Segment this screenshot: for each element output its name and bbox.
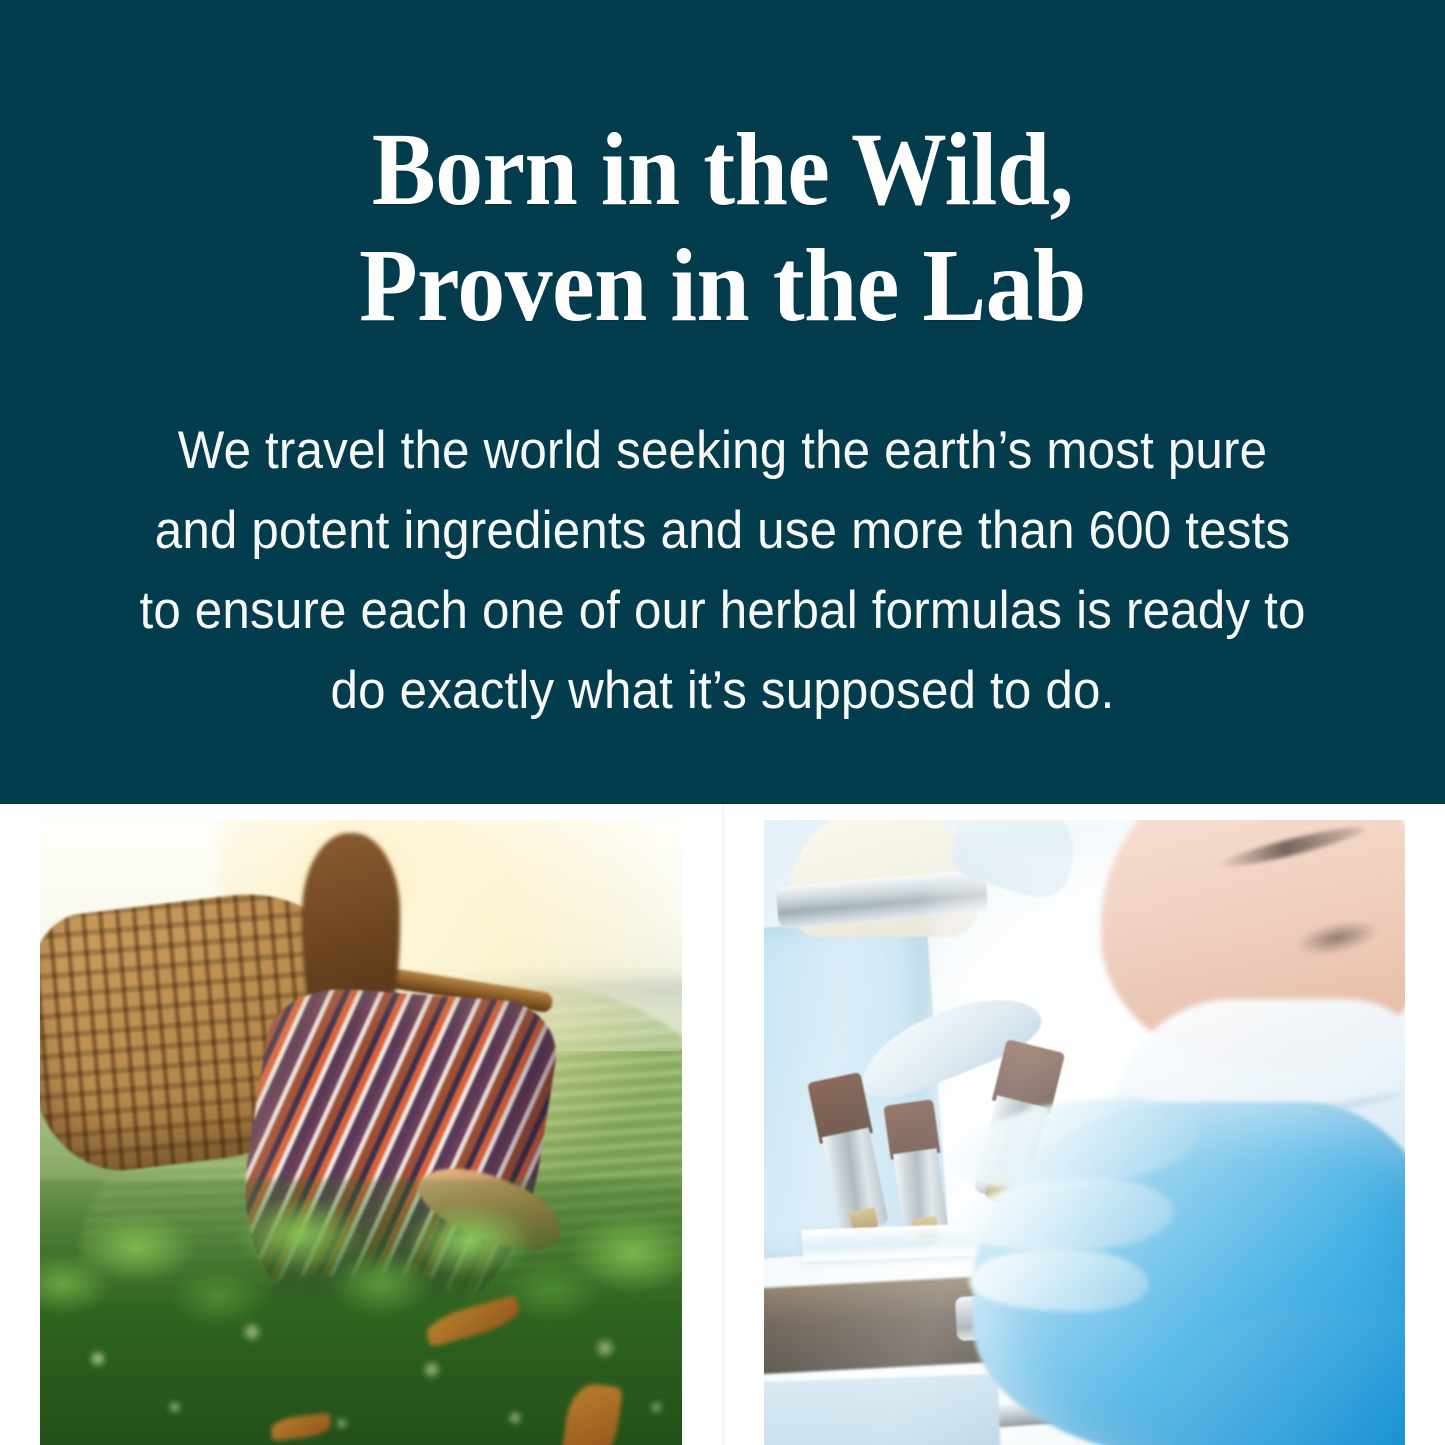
headline-line-2: Proven in the Lab <box>113 228 1332 344</box>
tea-field-illustration <box>40 820 682 1445</box>
page-title: Born in the Wild, Proven in the Lab <box>58 112 1387 345</box>
headline-panel: Born in the Wild, Proven in the Lab We t… <box>0 0 1445 804</box>
body-copy: We travel the world seeking the earth’s … <box>51 411 1395 731</box>
photo-divider <box>722 804 724 1445</box>
headline-line-1: Born in the Wild, <box>113 112 1332 228</box>
photo-strip <box>0 804 1445 1445</box>
laboratory-illustration <box>764 820 1405 1445</box>
harvest-photo <box>40 820 682 1445</box>
lab-photo <box>764 820 1405 1445</box>
bokeh-highlights <box>40 1192 682 1445</box>
brand-story-banner: Born in the Wild, Proven in the Lab We t… <box>0 0 1445 1445</box>
microscope-base <box>764 1374 1002 1445</box>
